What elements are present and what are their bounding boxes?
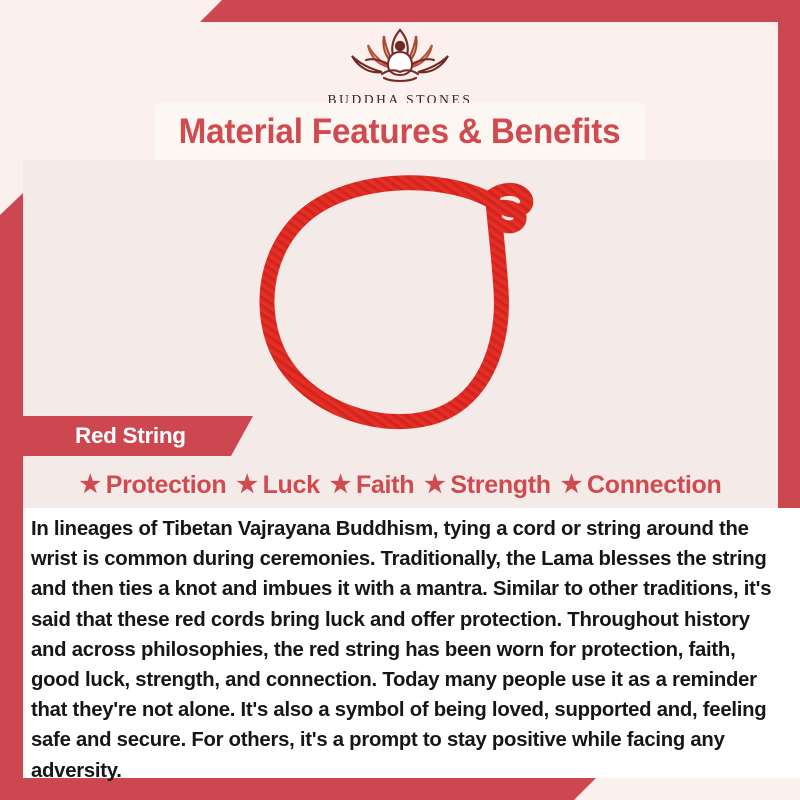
benefits-row: ★ Protection ★ Luck ★ Faith ★ Strength ★…: [23, 466, 778, 504]
benefit-item: ★ Luck: [236, 471, 319, 500]
benefit-item: ★ Faith: [330, 471, 414, 500]
benefit-label: Faith: [356, 471, 414, 500]
benefit-label: Connection: [587, 471, 722, 500]
benefit-label: Strength: [450, 471, 550, 500]
frame-left-bar: [0, 193, 23, 800]
red-string-tag: Red String: [23, 416, 253, 456]
brand-logo: BUDDHA STONES: [0, 20, 800, 108]
red-string-tag-label: Red String: [75, 423, 186, 449]
page-title-band: Material Features & Benefits: [155, 103, 645, 160]
description-text: In lineages of Tibetan Vajrayana Buddhis…: [31, 514, 782, 786]
star-icon: ★: [236, 473, 257, 497]
benefit-label: Protection: [106, 471, 227, 500]
star-icon: ★: [561, 473, 582, 497]
star-icon: ★: [80, 473, 101, 497]
benefit-item: ★ Strength: [424, 471, 551, 500]
star-icon: ★: [330, 473, 351, 497]
page-title: Material Features & Benefits: [179, 112, 621, 152]
red-braided-cord-bracelet-image: [243, 160, 573, 450]
description-panel: In lineages of Tibetan Vajrayana Buddhis…: [23, 508, 800, 778]
benefit-label: Luck: [263, 471, 320, 500]
benefit-item: ★ Connection: [561, 471, 722, 500]
star-icon: ★: [424, 473, 445, 497]
benefit-item: ★ Protection: [80, 471, 227, 500]
lotus-meditation-icon: [322, 20, 478, 90]
frame-top-bar: [0, 0, 800, 22]
infographic-page: BUDDHA STONES Material Features & Benefi…: [0, 0, 800, 800]
